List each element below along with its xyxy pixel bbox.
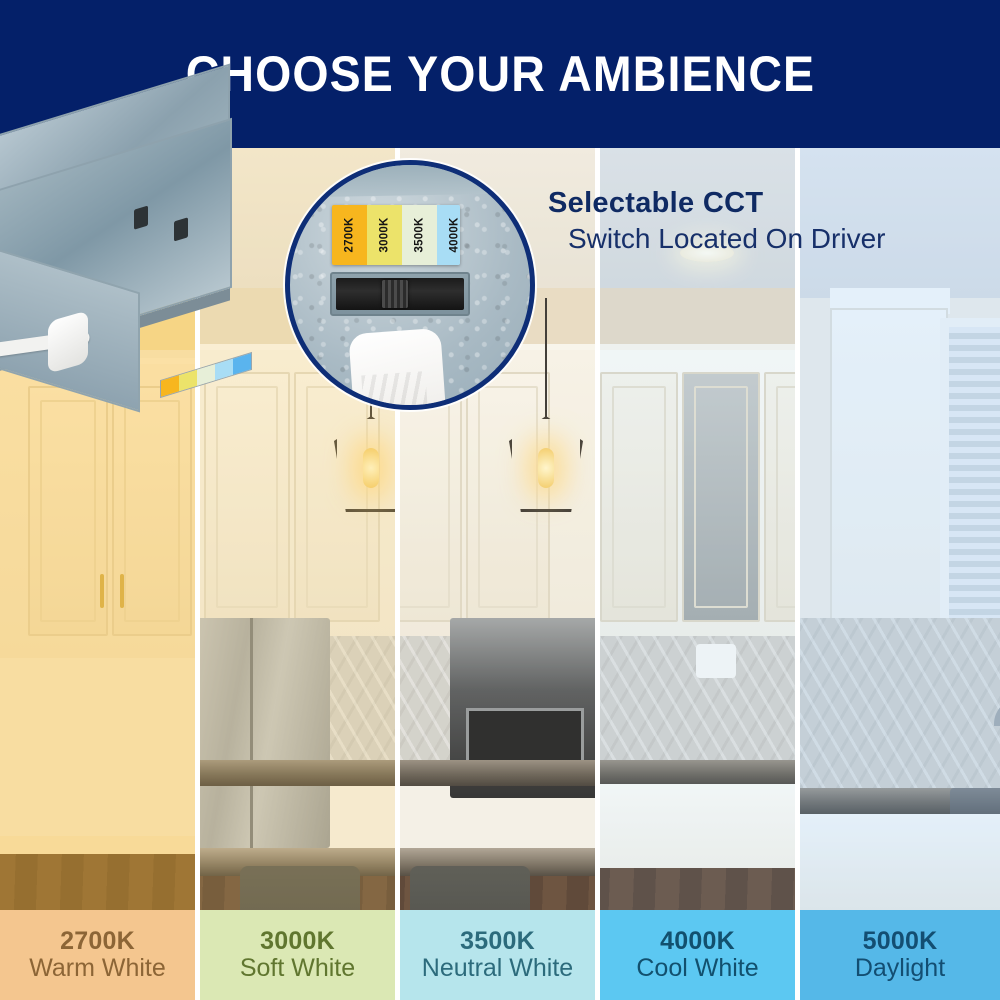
legend-kelvin: 3500K — [460, 928, 535, 954]
baseboard — [0, 836, 200, 854]
magnified-connector — [348, 328, 447, 410]
cct-cell-3000k: 3000K — [367, 205, 402, 265]
legend-name: Neutral White — [422, 954, 573, 983]
legend-name: Cool White — [636, 954, 758, 983]
legend-swatch-2700k: 2700K Warm White — [0, 910, 200, 1000]
header-banner: CHOOSE YOUR AMBIENCE — [0, 0, 1000, 148]
lower-cabinets — [800, 814, 1000, 910]
bar-stool — [410, 866, 530, 910]
legend-swatch-4000k: 4000K Cool White — [600, 910, 800, 1000]
cabinet-door — [112, 386, 192, 636]
driver-edge — [285, 160, 535, 198]
cct-cell-2700k: 2700K — [332, 205, 367, 265]
cabinet-door — [28, 386, 108, 636]
refrigerator — [200, 618, 330, 848]
cct-cell-label: 3500K — [413, 218, 425, 253]
legend-swatch-3000k: 3000K Soft White — [200, 910, 400, 1000]
switch-track[interactable] — [336, 278, 464, 310]
legend-kelvin: 4000K — [660, 928, 735, 954]
window — [940, 318, 1000, 648]
legend-name: Daylight — [855, 954, 945, 983]
page-title: CHOOSE YOUR AMBIENCE — [185, 45, 814, 103]
cct-legend-bar: 2700K Warm White 3000K Soft White 3500K … — [0, 910, 1000, 1000]
wall-band — [600, 288, 800, 350]
cabinet-door — [204, 372, 290, 622]
countertop — [600, 760, 800, 786]
glass-cabinet-door — [682, 372, 760, 622]
cabinet-door — [764, 372, 800, 622]
wall-band — [0, 288, 200, 350]
ceiling — [0, 148, 200, 298]
kitchen-scene — [0, 148, 200, 910]
kitchen-panel-4000k — [600, 148, 800, 910]
legend-name: Warm White — [29, 954, 166, 983]
cct-cell-3500k: 3500K — [402, 205, 437, 265]
cct-cell-label: 2700K — [343, 218, 355, 253]
floor — [600, 868, 800, 910]
infographic-canvas: CHOOSE YOUR AMBIENCE — [0, 0, 1000, 1000]
legend-swatch-5000k: 5000K Daylight — [800, 910, 1000, 1000]
upper-cabinets — [600, 344, 800, 644]
countertop — [200, 760, 400, 786]
callout-subline: Switch Located On Driver — [548, 221, 988, 256]
kitchen-scene — [800, 148, 1000, 910]
cct-label-strip: 2700K 3000K 3500K 4000K 5000K — [332, 205, 460, 265]
legend-kelvin: 5000K — [863, 928, 938, 954]
pendant-lamp — [545, 298, 547, 418]
kitchen-scene — [600, 148, 800, 910]
bar-stool — [240, 866, 360, 910]
lamp-bulb-icon — [363, 448, 379, 488]
cct-cell-label: 4000K — [448, 218, 460, 253]
upper-cabinets — [0, 358, 200, 658]
fridge-door-split — [250, 618, 253, 848]
callout-headline: Selectable CCT — [548, 186, 988, 221]
cabinet-door — [600, 372, 678, 622]
switch-knob[interactable] — [382, 280, 408, 308]
callout-text: Selectable CCT Switch Located On Driver — [548, 186, 988, 256]
kitchen-panel-5000k — [800, 148, 1000, 910]
magnifier-callout: 2700K 3000K 3500K 4000K 5000K — [285, 160, 535, 410]
legend-name: Soft White — [240, 954, 355, 983]
cct-selector-switch[interactable] — [330, 272, 470, 316]
floor — [0, 848, 200, 910]
legend-swatch-3500k: 3500K Neutral White — [400, 910, 600, 1000]
paper-towel-roll — [696, 644, 736, 678]
legend-kelvin: 2700K — [60, 928, 135, 954]
recessed-light-icon — [120, 234, 174, 252]
legend-kelvin: 3000K — [260, 928, 335, 954]
cct-cell-4000k: 4000K — [437, 205, 460, 265]
cct-cell-label: 3000K — [378, 218, 390, 253]
cabinet-handle — [120, 574, 124, 608]
lamp-bulb-icon — [538, 448, 554, 488]
cabinet-handle — [100, 574, 104, 608]
backsplash — [800, 618, 1000, 798]
kitchen-panel-2700k — [0, 148, 200, 910]
countertop — [400, 760, 600, 786]
